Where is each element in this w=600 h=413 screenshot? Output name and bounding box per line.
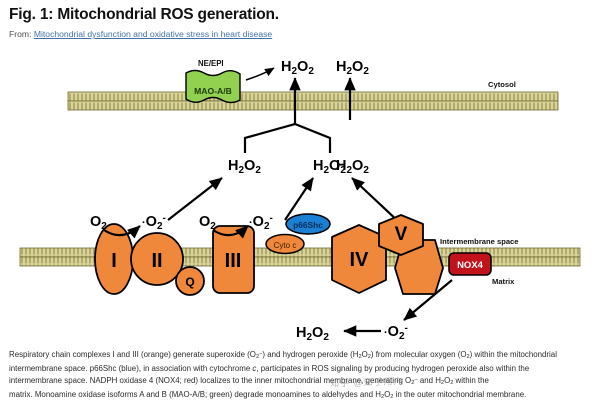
caption-line-2: intermembrane space. p66Shc (blue), in a… bbox=[9, 363, 593, 376]
enzyme-cytochrome-c-label: Cyto c bbox=[274, 241, 297, 250]
molecule-h2o2-outer-right: H2O2 bbox=[336, 59, 369, 77]
molecule-h2o2-mid-left: H2O2 bbox=[228, 158, 261, 176]
source-attribution: From: Mitochondrial dysfunction and oxid… bbox=[9, 29, 272, 39]
enzyme-nox4-label: NOX4 bbox=[457, 260, 484, 271]
enzyme-cytochrome-c[interactable]: Cyto c bbox=[266, 235, 304, 254]
enzyme-mao[interactable]: MAO-A/B bbox=[186, 71, 240, 103]
molecule-h2o2-matrix: H2O2 bbox=[296, 325, 329, 343]
svg-text:·O2-: ·O2- bbox=[384, 323, 408, 342]
outer-membrane bbox=[68, 92, 558, 110]
svg-text:H2O2: H2O2 bbox=[336, 59, 369, 77]
region-label-cytosol: Cytosol bbox=[488, 80, 516, 89]
substrate-label-ne-epi: NE/EPI bbox=[198, 59, 224, 68]
caption-line-1: Respiratory chain complexes I and III (o… bbox=[9, 349, 593, 363]
figure-diagram: Cytosol MAO-A/B NE/EPI H2O2 H2O2 H2O2 H2… bbox=[0, 48, 600, 348]
complex-i-label: I bbox=[111, 250, 117, 272]
svg-text:H2O2: H2O2 bbox=[228, 158, 261, 176]
junction-h2o2-converge bbox=[245, 120, 330, 153]
figure-caption: Respiratory chain complexes I and III (o… bbox=[9, 349, 593, 402]
complex-ii[interactable]: II bbox=[131, 233, 183, 285]
enzyme-mao-label: MAO-A/B bbox=[194, 86, 232, 96]
svg-text:·O2-: ·O2- bbox=[142, 213, 166, 232]
from-label: From: bbox=[9, 29, 31, 39]
complex-q-label: Q bbox=[185, 275, 194, 289]
arrow-sup1-to-h2o2 bbox=[168, 178, 222, 220]
source-link[interactable]: Mitochondrial dysfunction and oxidative … bbox=[34, 29, 272, 39]
molecule-superoxide-complex1: ·O2- bbox=[142, 213, 166, 232]
molecule-h2o2-complex4: H2O2 bbox=[336, 158, 369, 176]
arrow-p66shc-to-h2o2 bbox=[352, 178, 400, 223]
enzyme-nox4[interactable]: NOX4 bbox=[449, 253, 491, 275]
page-title: Fig. 1: Mitochondrial ROS generation. bbox=[9, 6, 279, 24]
complex-iv-label: IV bbox=[350, 249, 370, 271]
complex-ii-label: II bbox=[151, 250, 162, 272]
svg-text:H2O2: H2O2 bbox=[296, 325, 329, 343]
enzyme-p66shc-label: p66Shc bbox=[293, 220, 323, 230]
region-label-intermembrane-space: Intermembrane space bbox=[440, 237, 519, 246]
molecule-h2o2-outer-left: H2O2 bbox=[281, 59, 314, 77]
arrow-mao-to-h2o2 bbox=[246, 68, 274, 80]
complex-v-label: V bbox=[395, 224, 408, 245]
complex-iv[interactable]: IV bbox=[332, 225, 386, 293]
svg-text:·O2-: ·O2- bbox=[249, 213, 273, 232]
caption-line-3: intermembrane space. NADPH oxidase 4 (NO… bbox=[9, 375, 593, 389]
molecule-superoxide-matrix: ·O2- bbox=[384, 323, 408, 342]
complex-iii-label: III bbox=[225, 250, 242, 272]
svg-text:H2O2: H2O2 bbox=[281, 59, 314, 77]
molecule-superoxide-complex3: ·O2- bbox=[249, 213, 273, 232]
svg-text:H2O2: H2O2 bbox=[336, 158, 369, 176]
complex-q[interactable]: Q bbox=[176, 267, 204, 295]
region-label-matrix: Matrix bbox=[492, 277, 515, 286]
caption-line-4: matrix. Monoamine oxidase isoforms A and… bbox=[9, 389, 593, 403]
complex-iii[interactable]: III bbox=[213, 226, 254, 293]
enzyme-p66shc[interactable]: p66Shc bbox=[286, 214, 330, 234]
